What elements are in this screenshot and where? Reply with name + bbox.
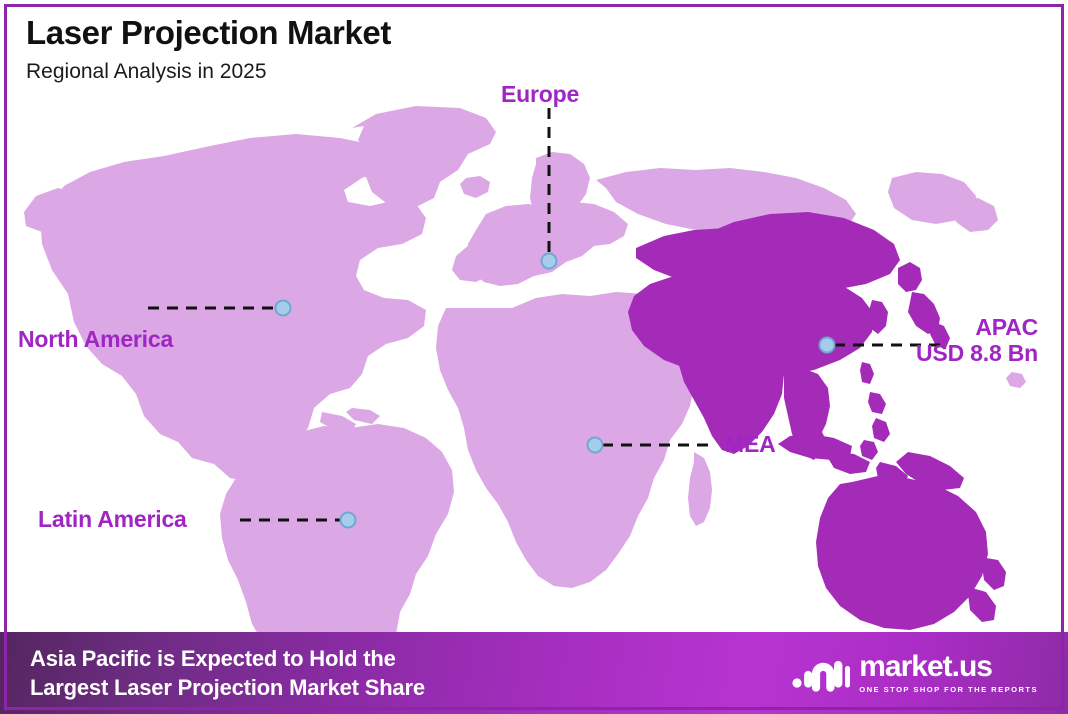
header-block: Laser Projection Market Regional Analysi…: [26, 14, 391, 84]
region-label-apac-name: APAC: [975, 314, 1038, 340]
region-label-latin-america[interactable]: Latin America: [38, 507, 187, 533]
market-us-logo[interactable]: market.us ONE STOP SHOP FOR THE REPORTS: [792, 652, 1038, 694]
region-label-mea[interactable]: MEA: [725, 432, 776, 458]
page-title: Laser Projection Market: [26, 14, 391, 53]
region-label-europe[interactable]: Europe: [501, 82, 579, 108]
page-subtitle: Regional Analysis in 2025: [26, 59, 391, 84]
market-us-bars-logo-icon: [792, 653, 850, 693]
map-region-apac-highlight: [628, 212, 1006, 630]
region-label-apac[interactable]: APAC USD 8.8 Bn: [826, 315, 1038, 367]
infographic-canvas: Laser Projection Market Regional Analysi…: [0, 0, 1068, 714]
banner-headline-line1: Asia Pacific is Expected to Hold the: [30, 644, 425, 673]
logo-tagline: ONE STOP SHOP FOR THE REPORTS: [859, 685, 1038, 694]
market-us-logo-text: market.us ONE STOP SHOP FOR THE REPORTS: [859, 652, 1038, 694]
region-label-apac-value: USD 8.8 Bn: [826, 341, 1038, 367]
region-label-north-america[interactable]: North America: [18, 327, 173, 353]
bottom-banner: Asia Pacific is Expected to Hold the Lar…: [0, 632, 1068, 714]
logo-wordmark: market.us: [859, 652, 1038, 682]
banner-headline-line2: Largest Laser Projection Market Share: [30, 673, 425, 702]
banner-headline: Asia Pacific is Expected to Hold the Lar…: [30, 644, 425, 702]
